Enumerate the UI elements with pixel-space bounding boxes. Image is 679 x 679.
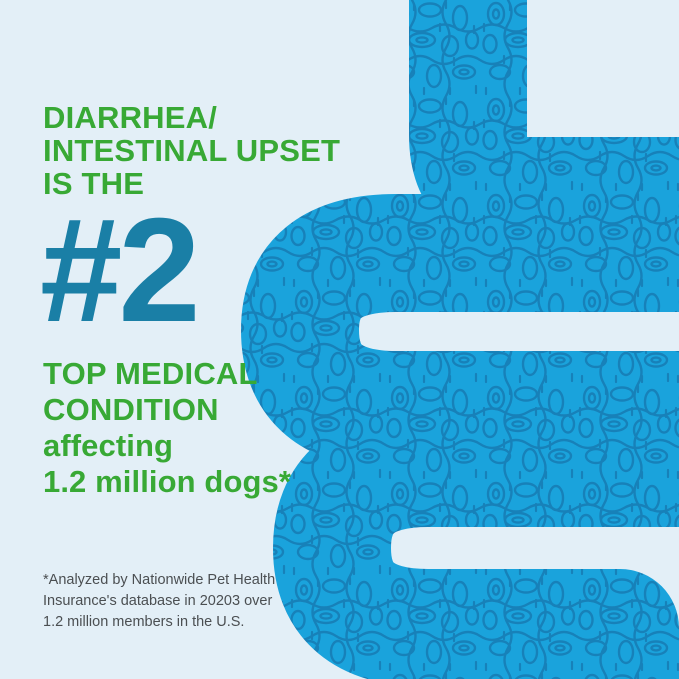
- footnote: *Analyzed by Nationwide Pet Health Insur…: [43, 570, 383, 633]
- subhead-line-1: TOP MEDICAL: [43, 356, 373, 392]
- rank-number: #2: [40, 212, 197, 330]
- text-layer: DIARRHEA/ INTESTINAL UPSET IS THE #2 TOP…: [0, 0, 679, 679]
- subhead-line-4: 1.2 million dogs*: [43, 464, 373, 500]
- headline-line-1: DIARRHEA/: [43, 101, 373, 134]
- subheadline: TOP MEDICAL CONDITION affecting 1.2 mill…: [43, 356, 373, 500]
- footnote-line-1: *Analyzed by Nationwide Pet Health: [43, 570, 383, 591]
- subhead-line-2: CONDITION: [43, 392, 373, 428]
- footnote-line-2: Insurance's database in 20203 over: [43, 591, 383, 612]
- footnote-line-3: 1.2 million members in the U.S.: [43, 612, 383, 633]
- infographic-poster: DIARRHEA/ INTESTINAL UPSET IS THE #2 TOP…: [0, 0, 679, 679]
- headline: DIARRHEA/ INTESTINAL UPSET IS THE: [43, 101, 373, 200]
- rank-statistic: #2: [40, 212, 197, 330]
- subhead-line-3: affecting: [43, 428, 373, 464]
- headline-line-2: INTESTINAL UPSET: [43, 134, 373, 167]
